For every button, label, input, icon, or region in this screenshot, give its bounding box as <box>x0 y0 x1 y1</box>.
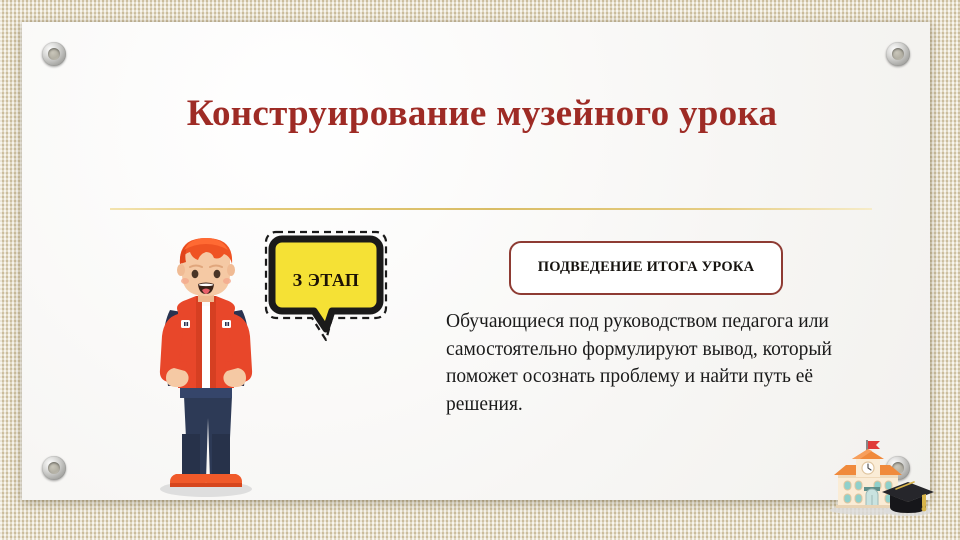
corner-screw-bottom-left <box>42 456 66 480</box>
corner-screw-top-right <box>886 42 910 66</box>
section-header-label: ПОДВЕДЕНИЕ ИТОГА УРОКА <box>538 259 755 276</box>
slide-canvas: Конструирование музейного урока <box>0 0 960 540</box>
school-building-illustration <box>822 437 940 519</box>
title-divider <box>110 208 872 210</box>
stage-bubble-label: З ЭТАП <box>260 270 392 291</box>
section-header-box: ПОДВЕДЕНИЕ ИТОГА УРОКА <box>509 241 783 295</box>
body-paragraph: Обучающиеся под руководством педагога ил… <box>446 308 858 419</box>
student-boy-illustration <box>150 234 262 502</box>
slide-card: Конструирование музейного урока <box>22 22 930 500</box>
slide-title: Конструирование музейного урока <box>82 94 882 135</box>
corner-screw-top-left <box>42 42 66 66</box>
stage-speech-bubble: З ЭТАП <box>260 226 392 350</box>
